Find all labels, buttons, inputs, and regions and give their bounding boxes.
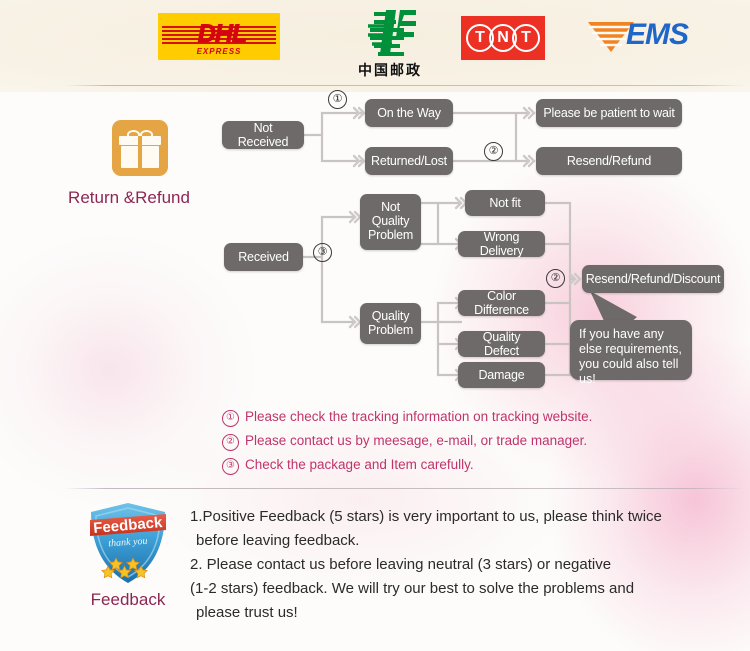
feedback-policy-text: 1.Positive Feedback (5 stars) is very im…: [190, 505, 720, 625]
node-not-received[interactable]: Not Received: [222, 121, 304, 149]
feedback-label: Feedback: [68, 590, 188, 610]
node-resend-refund-discount[interactable]: Resend/Refund/Discount: [582, 265, 724, 293]
node-quality-problem[interactable]: Quality Problem: [360, 303, 421, 344]
feedback-line-3: 2. Please contact us before leaving neut…: [190, 553, 720, 577]
flow-marker-3: ③: [313, 243, 332, 262]
promo-page: DHL EXPRESS 中国邮政 T N T: [0, 0, 750, 651]
node-received[interactable]: Received: [224, 243, 303, 271]
note-text-2: Please contact us by meesage, e-mail, or…: [245, 432, 587, 449]
node-quality-problem-line2: Problem: [368, 323, 413, 337]
feedback-badge: Feedback thank you: [86, 500, 170, 586]
note-number-3: ③: [222, 458, 239, 475]
node-resend-refund[interactable]: Resend/Refund: [536, 147, 682, 175]
divider-middle: [65, 488, 745, 489]
node-quality-problem-line1: Quality: [368, 309, 413, 323]
flow-marker-1: ①: [328, 90, 347, 109]
node-quality-defect[interactable]: Quality Defect: [458, 331, 545, 357]
flow-marker-2b: ②: [546, 269, 565, 288]
node-wrong-delivery[interactable]: Wrong Delivery: [458, 231, 545, 257]
node-please-be-patient[interactable]: Please be patient to wait: [536, 99, 682, 127]
feedback-line-5: please trust us!: [190, 601, 720, 625]
note-text-1: Please check the tracking information on…: [245, 408, 592, 425]
feedback-line-1: 1.Positive Feedback (5 stars) is very im…: [190, 505, 720, 529]
node-not-quality-problem-line1: Not: [368, 200, 413, 214]
node-not-quality-problem-line2: Quality: [368, 214, 413, 228]
note-number-1: ①: [222, 410, 239, 427]
node-color-difference[interactable]: Color Difference: [458, 290, 545, 316]
feedback-section-icon: Feedback thank you Feedback: [68, 500, 188, 610]
feedback-line-2: before leaving feedback.: [190, 529, 720, 553]
flow-marker-2: ②: [484, 142, 503, 161]
node-on-the-way[interactable]: On the Way: [365, 99, 453, 127]
note-text-3: Check the package and Item carefully.: [245, 456, 474, 473]
node-returned-lost[interactable]: Returned/Lost: [365, 147, 453, 175]
note-item-2: ② Please contact us by meesage, e-mail, …: [222, 432, 722, 451]
extra-requirements-bubble: If you have any else requirements, you c…: [570, 320, 692, 380]
node-not-quality-problem[interactable]: Not Quality Problem: [360, 194, 421, 250]
note-item-1: ① Please check the tracking information …: [222, 408, 722, 427]
note-item-3: ③ Check the package and Item carefully.: [222, 456, 722, 475]
node-damage[interactable]: Damage: [458, 362, 545, 388]
node-not-fit[interactable]: Not fit: [465, 190, 545, 216]
returns-flowchart: Not Received On the Way Returned/Lost Pl…: [0, 0, 750, 400]
note-number-2: ②: [222, 434, 239, 451]
node-not-quality-problem-line3: Problem: [368, 228, 413, 242]
feedback-shield-icon: Feedback thank you: [86, 500, 170, 586]
feedback-line-4: (1-2 stars) feedback. We will try our be…: [190, 577, 720, 601]
tracking-notes-list: ① Please check the tracking information …: [222, 408, 722, 480]
